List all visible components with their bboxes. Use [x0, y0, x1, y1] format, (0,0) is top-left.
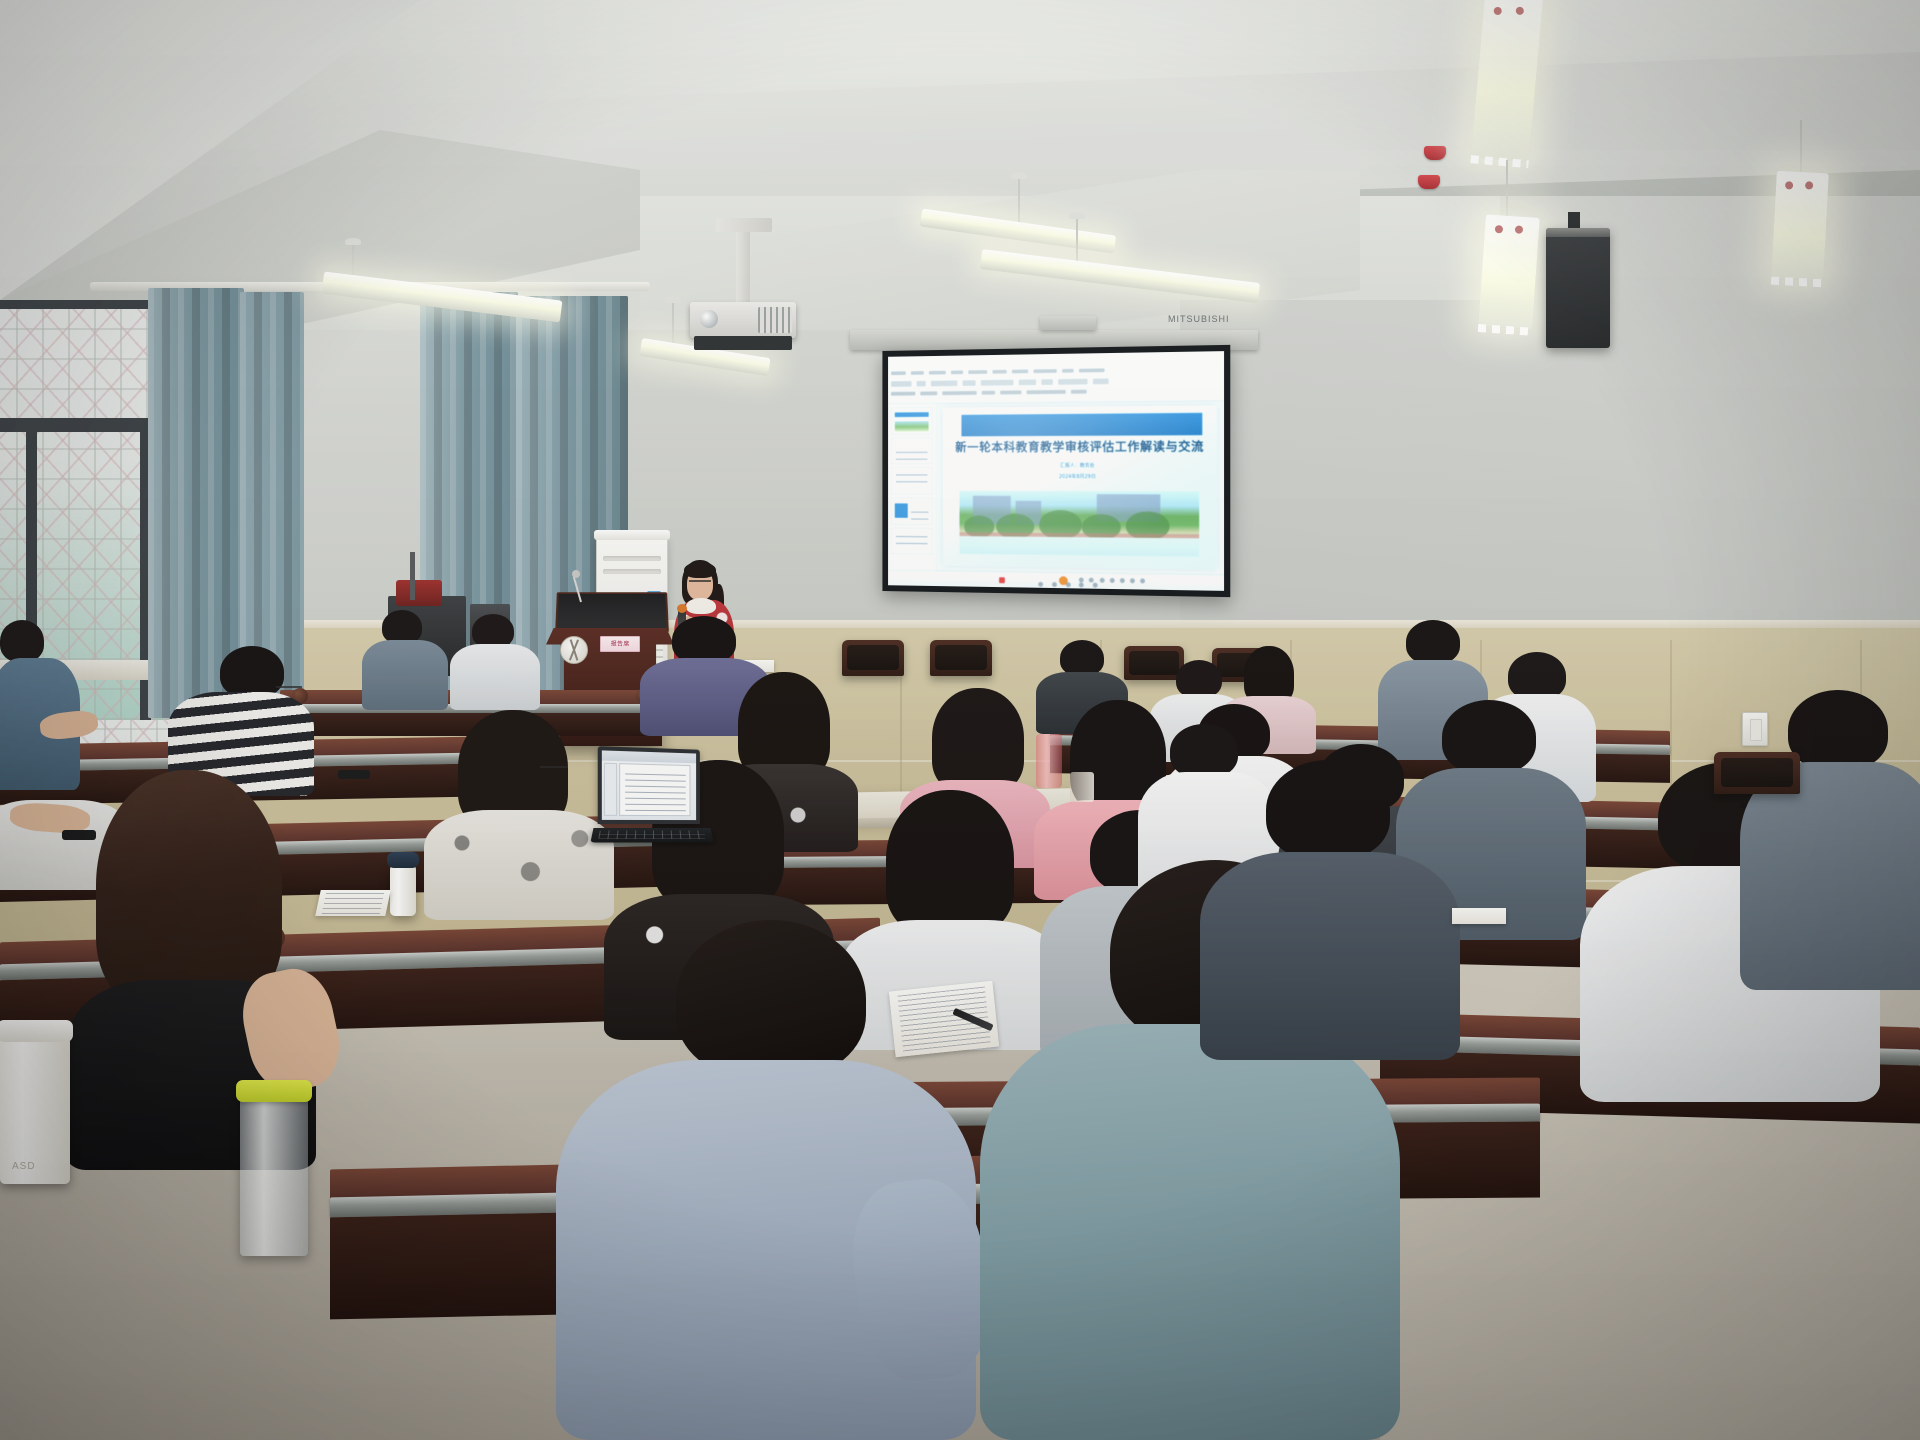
- projection-screen: 新一轮本科教育教学审核评估工作解读与交流 汇报人：教务处 2024年8月29日: [882, 345, 1230, 597]
- audience-member: [362, 610, 448, 710]
- phone-on-desk[interactable]: [338, 770, 370, 779]
- phone-on-desk[interactable]: [62, 830, 96, 840]
- projector-ceiling-plate: [716, 218, 772, 232]
- paper-cup: [1070, 772, 1094, 802]
- slide-date: 2024年8月29日: [943, 473, 1216, 480]
- powerpoint-ribbon[interactable]: [888, 363, 1224, 405]
- water-bottle-clear: [240, 1096, 308, 1256]
- wooden-chair[interactable]: [1714, 752, 1800, 794]
- laptop-display: [602, 750, 696, 820]
- glasses-icon: [540, 766, 568, 768]
- slide-header-band: [962, 412, 1203, 436]
- podium-mic-head-icon: [572, 570, 580, 578]
- screen-brand-label: MITSUBISHI: [1168, 314, 1230, 324]
- microphone-head-icon: [677, 604, 687, 613]
- audience-member: [424, 710, 614, 920]
- presenter-fringe: [684, 562, 716, 578]
- slide-thumbnail[interactable]: [891, 467, 933, 494]
- light-hanger-cap: [1011, 172, 1027, 179]
- thermos-flask: ASD: [0, 1034, 70, 1184]
- pink-cup: [1036, 734, 1062, 788]
- red-chair: [396, 580, 442, 606]
- glasses-icon: [276, 686, 302, 688]
- light-hanger-cap: [345, 238, 361, 245]
- audience-member: [450, 614, 540, 710]
- glasses-icon: [689, 580, 711, 582]
- fire-sprinkler-icon: [1418, 175, 1440, 189]
- current-slide: 新一轮本科教育教学审核评估工作解读与交流 汇报人：教务处 2024年8月29日: [943, 406, 1216, 570]
- conference-chair[interactable]: [842, 640, 904, 676]
- lecture-room-scene: MITSUBISHI: [0, 0, 1920, 1440]
- conference-chair[interactable]: [930, 640, 992, 676]
- projector-lens-icon: [700, 310, 718, 328]
- light-hanger-wire: [1506, 160, 1508, 218]
- slide-thumbnail[interactable]: [891, 527, 933, 554]
- audience-member: [1200, 760, 1460, 1060]
- slide-thumbnail[interactable]: [891, 407, 933, 434]
- pendant-light-2: [1478, 214, 1540, 329]
- projector-underside: [694, 336, 792, 350]
- fire-sprinkler-icon: [1424, 146, 1446, 160]
- light-hanger-wire: [1018, 176, 1020, 228]
- podium-sign: 报告席: [600, 636, 640, 652]
- paper-sheet: [1452, 908, 1506, 924]
- slide-thumbnail[interactable]: [891, 437, 933, 464]
- powerpoint-window: 新一轮本科教育教学审核评估工作解读与交流 汇报人：教务处 2024年8月29日: [888, 351, 1224, 591]
- ac-top-cover: [594, 530, 670, 540]
- laptop-screen[interactable]: [598, 746, 700, 824]
- powerpoint-slide-thumbnails[interactable]: [888, 404, 936, 570]
- projector-vent: [758, 307, 792, 333]
- ceiling-projector: [690, 302, 796, 338]
- laptop-keyboard[interactable]: [590, 828, 713, 843]
- podium-sign-text: 报告席: [610, 640, 629, 649]
- university-emblem-icon: [560, 636, 588, 664]
- presenter-collar: [686, 598, 716, 614]
- audience-member: [1740, 690, 1920, 990]
- wall-upper-right: [1180, 300, 1920, 620]
- slide-campus-photo: [959, 490, 1199, 556]
- pendant-light-3: [1771, 171, 1829, 282]
- light-hanger-wire: [1800, 120, 1802, 174]
- water-bottle-blue: [390, 862, 416, 916]
- light-hanger-cap: [665, 296, 681, 303]
- bottle-lid[interactable]: [236, 1080, 312, 1102]
- paper-sheet: [315, 890, 391, 916]
- projection-screen-surface: 新一轮本科教育教学审核评估工作解读与交流 汇报人：教务处 2024年8月29日: [888, 351, 1224, 591]
- projector-mount-pole: [736, 228, 750, 312]
- powerpoint-status-bar[interactable]: [888, 569, 1224, 591]
- powerpoint-slide-stage: 新一轮本科教育教学审核评估工作解读与交流 汇报人：教务处 2024年8月29日: [936, 401, 1224, 574]
- slide-subtitle: 汇报人：教务处: [943, 462, 1216, 469]
- screen-mount-bracket: [1040, 316, 1096, 330]
- stand-pole: [410, 552, 415, 600]
- slide-title: 新一轮本科教育教学审核评估工作解读与交流: [951, 437, 1208, 455]
- wall-speaker: [1546, 228, 1610, 348]
- slide-thumbnail[interactable]: [891, 497, 933, 524]
- light-hanger-cap: [1069, 212, 1085, 219]
- thermos-brand-label: ASD: [12, 1161, 36, 1172]
- status-alert-icon: [999, 577, 1005, 583]
